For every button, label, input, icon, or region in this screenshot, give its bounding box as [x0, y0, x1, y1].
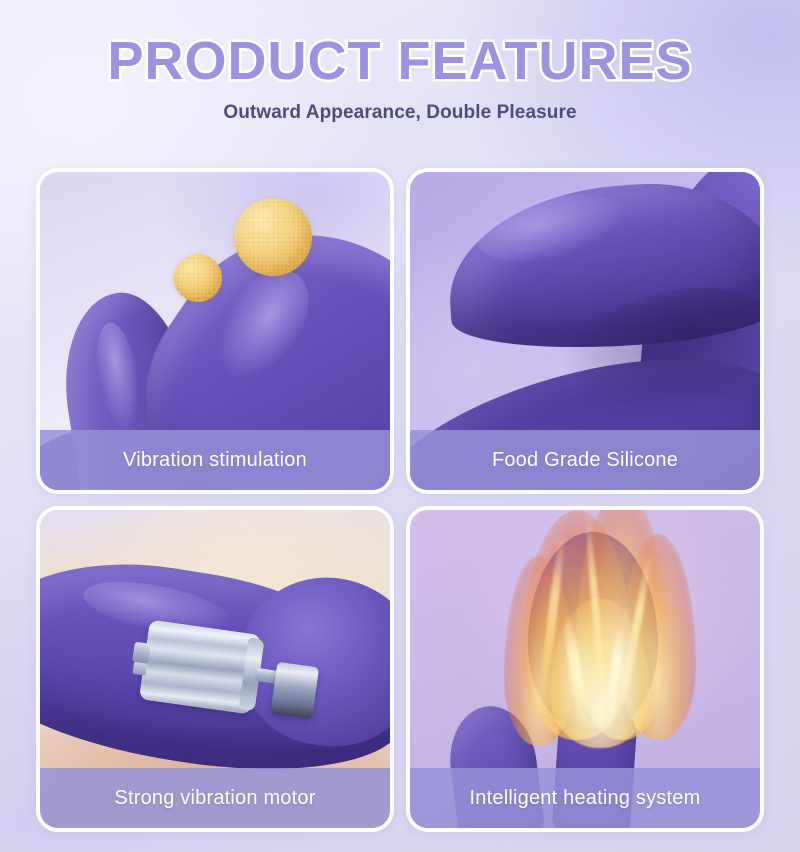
- feature-caption-label: Intelligent heating system: [470, 787, 701, 810]
- feature-card-intelligent-heating-system[interactable]: Intelligent heating system: [406, 506, 764, 832]
- feature-card-food-grade-silicone[interactable]: Food Grade Silicone: [406, 168, 764, 494]
- gold-sphere-small: [174, 254, 222, 302]
- feature-caption-label: Strong vibration motor: [114, 787, 315, 810]
- feature-caption-label: Vibration stimulation: [123, 449, 307, 472]
- sphere-texture: [174, 254, 222, 302]
- page-subtitle: Outward Appearance, Double Pleasure: [0, 102, 800, 124]
- feature-card-grid: Vibration stimulation Food Grade Silicon…: [36, 168, 764, 832]
- feature-caption-band: Vibration stimulation: [40, 430, 390, 490]
- page-header: PRODUCT FEATURES Outward Appearance, Dou…: [0, 0, 800, 124]
- sphere-texture: [234, 198, 312, 276]
- product-features-page: PRODUCT FEATURES Outward Appearance, Dou…: [0, 0, 800, 852]
- feature-caption-band: Intelligent heating system: [410, 768, 760, 828]
- feature-card-vibration-stimulation[interactable]: Vibration stimulation: [36, 168, 394, 494]
- motor-terminal-tab-upper: [132, 642, 151, 664]
- feature-card-strong-vibration-motor[interactable]: Strong vibration motor: [36, 506, 394, 832]
- page-title: PRODUCT FEATURES: [0, 30, 800, 92]
- gold-sphere-large: [234, 198, 312, 276]
- motor-counterweight: [270, 662, 319, 719]
- feature-caption-band: Strong vibration motor: [40, 768, 390, 828]
- feature-caption-band: Food Grade Silicone: [410, 430, 760, 490]
- motor-terminal-tab-lower: [132, 662, 147, 676]
- feature-caption-label: Food Grade Silicone: [492, 449, 678, 472]
